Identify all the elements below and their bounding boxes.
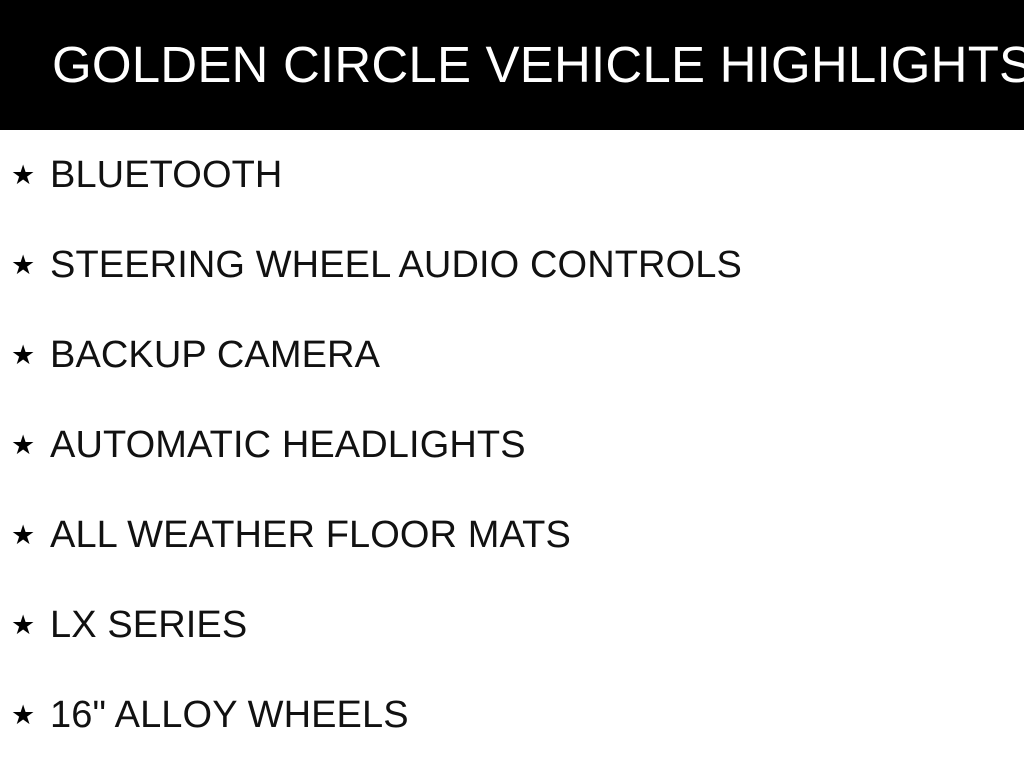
list-item: ★ LX SERIES — [0, 598, 1024, 652]
list-item: ★ BLUETOOTH — [0, 148, 1024, 202]
list-item: ★ ALL WEATHER FLOOR MATS — [0, 508, 1024, 562]
highlights-list: ★ BLUETOOTH ★ STEERING WHEEL AUDIO CONTR… — [0, 130, 1024, 768]
vehicle-highlights-page: GOLDEN CIRCLE VEHICLE HIGHLIGHTS ★ BLUET… — [0, 0, 1024, 768]
header-banner: GOLDEN CIRCLE VEHICLE HIGHLIGHTS — [0, 0, 1024, 130]
list-item-label: LX SERIES — [50, 606, 247, 644]
star-bullet-icon: ★ — [11, 702, 33, 729]
list-item-label: BACKUP CAMERA — [50, 336, 380, 374]
star-bullet-icon: ★ — [11, 522, 33, 549]
list-item-label: AUTOMATIC HEADLIGHTS — [50, 426, 526, 464]
star-bullet-icon: ★ — [11, 432, 33, 459]
list-item-label: STEERING WHEEL AUDIO CONTROLS — [50, 246, 742, 284]
list-item-label: BLUETOOTH — [50, 156, 282, 194]
star-bullet-icon: ★ — [11, 162, 33, 189]
star-bullet-icon: ★ — [11, 252, 33, 279]
list-item: ★ AUTOMATIC HEADLIGHTS — [0, 418, 1024, 472]
star-bullet-icon: ★ — [11, 342, 33, 369]
star-bullet-icon: ★ — [11, 612, 33, 639]
list-item-label: ALL WEATHER FLOOR MATS — [50, 516, 571, 554]
list-item: ★ 16" ALLOY WHEELS — [0, 688, 1024, 742]
page-title: GOLDEN CIRCLE VEHICLE HIGHLIGHTS — [52, 0, 972, 130]
list-item: ★ BACKUP CAMERA — [0, 328, 1024, 382]
list-item: ★ STEERING WHEEL AUDIO CONTROLS — [0, 238, 1024, 292]
list-item-label: 16" ALLOY WHEELS — [50, 696, 409, 734]
